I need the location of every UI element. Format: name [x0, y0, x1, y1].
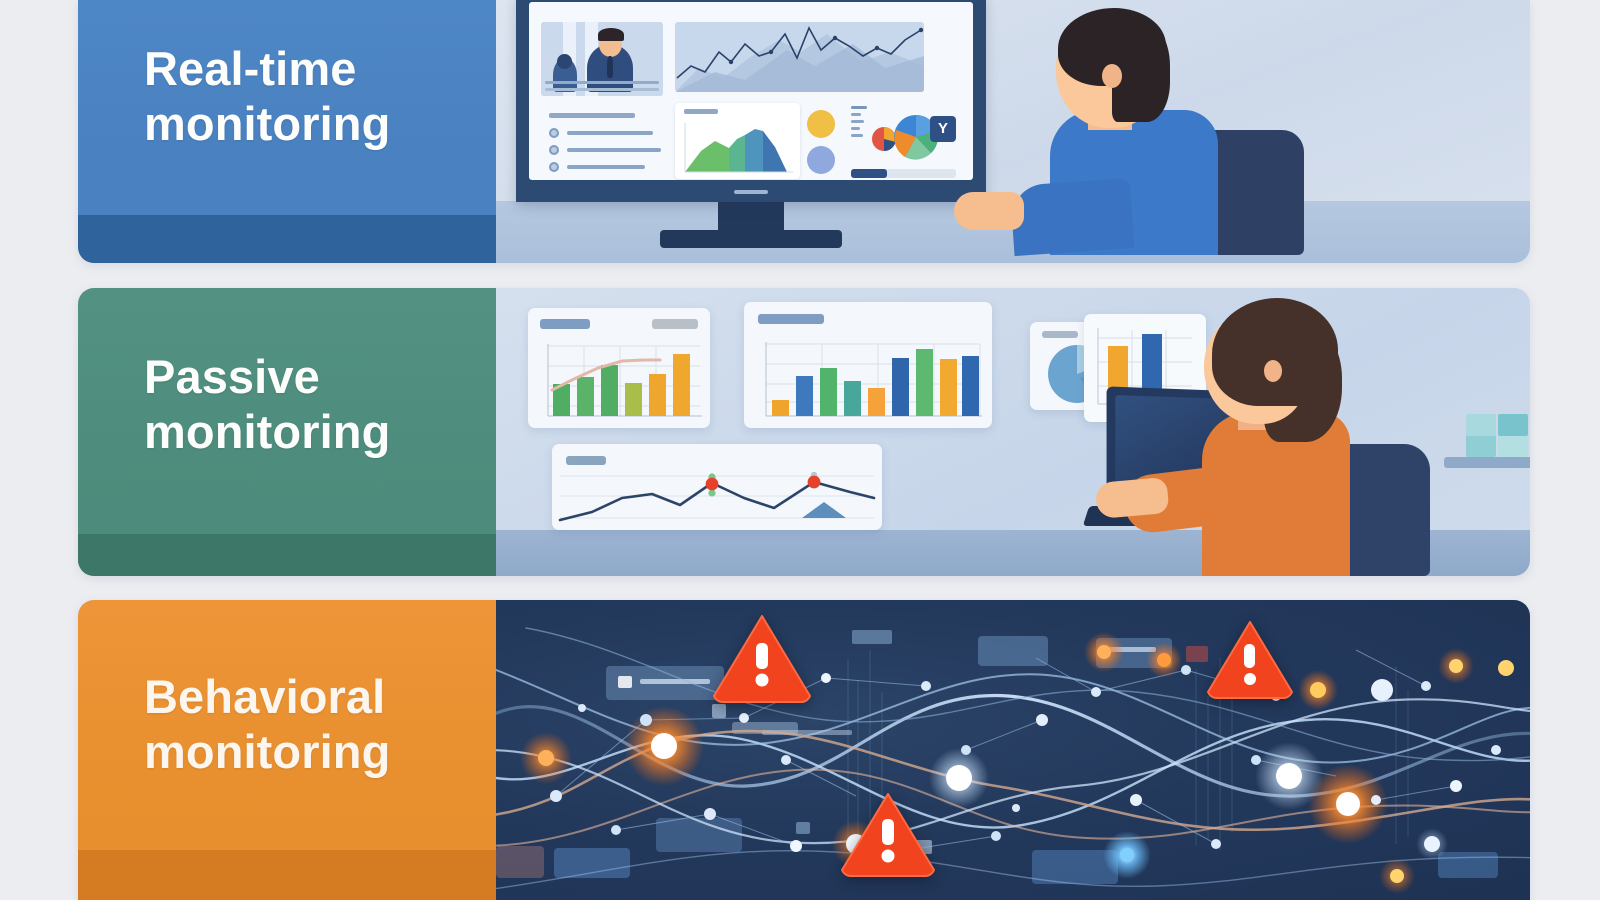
shelf-plank	[1444, 457, 1530, 468]
kpi-dot-blue	[807, 146, 835, 174]
progress-bar-track	[851, 169, 956, 178]
area-chart-svg	[675, 117, 800, 179]
line-card-svg	[552, 470, 882, 528]
video-caption-bar-1	[545, 81, 659, 84]
kpi-dot-amber	[807, 110, 835, 138]
band-3-label-text: Behavioral monitoring	[144, 670, 484, 780]
pie-legend-bars	[851, 106, 867, 141]
band-1-scene-man-at-monitor: Y	[496, 0, 1530, 263]
pie-chart-widget: Y	[851, 104, 956, 178]
line-chart-widget	[675, 22, 924, 92]
network-graph-svg	[496, 600, 1530, 900]
monitor-stand-foot	[660, 230, 842, 248]
band-2-scene-woman-at-laptop	[496, 288, 1530, 576]
warning-triangle-icon[interactable]	[836, 788, 940, 880]
desktop-monitor: Y	[516, 0, 986, 202]
person-man-at-desk	[1016, 2, 1316, 252]
band-2-label-panel: Passive monitoring	[78, 288, 496, 576]
kpi-dots-group	[807, 106, 843, 178]
band-passive-monitoring[interactable]: Passive monitoring	[78, 288, 1530, 576]
video-person-small-head	[557, 54, 572, 69]
area-chart-widget	[675, 103, 800, 179]
card-title-bar	[566, 456, 606, 465]
bar-chart-2-svg	[744, 332, 992, 428]
list-item-text-bar	[567, 165, 645, 169]
monitor-screen: Y	[529, 2, 973, 180]
bar-chart-1-svg	[528, 336, 710, 428]
card-title-bar	[540, 319, 590, 329]
video-caption-bar-2	[545, 88, 659, 91]
person-woman-at-laptop	[1086, 294, 1416, 576]
shelf-block	[1498, 414, 1528, 436]
band-3-scene-anomaly-network	[496, 600, 1530, 900]
band-3-label-line1: Behavioral	[144, 670, 484, 725]
wall-shelf	[1444, 388, 1530, 468]
list-item-text-bar	[567, 131, 653, 135]
band-2-label-base-strip	[78, 534, 496, 576]
video-tile-widget	[541, 22, 663, 96]
radio-icon	[549, 145, 559, 155]
band-1-label-text: Real-time monitoring	[144, 42, 484, 152]
list-widget	[541, 106, 663, 176]
list-title-bar	[549, 113, 635, 118]
area-chart-title-bar	[684, 109, 718, 114]
woman-ear	[1264, 360, 1282, 382]
man-hand-on-mouse	[954, 192, 1024, 230]
band-3-label-line2: monitoring	[144, 725, 484, 780]
man-ear	[1102, 64, 1122, 88]
infographic-canvas: Real-time monitoring	[0, 0, 1600, 900]
bar-chart-card-2[interactable]	[744, 302, 992, 428]
video-person-hair	[598, 28, 624, 41]
card-title-bar	[758, 314, 824, 324]
progress-bar-fill	[851, 169, 887, 178]
bar-chart-card-1[interactable]	[528, 308, 710, 428]
shelf-block	[1466, 414, 1496, 436]
man-arm	[1010, 178, 1135, 256]
band-2-label-text: Passive monitoring	[144, 350, 484, 460]
warning-triangle-icon[interactable]	[708, 610, 816, 706]
list-item-text-bar	[567, 148, 661, 152]
band-behavioral-monitoring[interactable]: Behavioral monitoring	[78, 600, 1530, 900]
card-title-bar	[1042, 331, 1078, 338]
warning-triangle-icon[interactable]	[1202, 616, 1298, 702]
band-1-label-line2: monitoring	[144, 97, 484, 152]
band-2-label-line2: monitoring	[144, 405, 484, 460]
video-person-tie	[607, 56, 613, 78]
band-real-time-monitoring[interactable]: Real-time monitoring	[78, 0, 1530, 263]
monitor-led-bar	[734, 190, 768, 194]
shelf-block	[1498, 433, 1528, 457]
band-2-label-line1: Passive	[144, 350, 484, 405]
y-badge[interactable]: Y	[930, 116, 956, 142]
band-3-label-panel: Behavioral monitoring	[78, 600, 496, 900]
band-3-label-base-strip	[78, 850, 496, 900]
woman-hair	[1212, 298, 1338, 406]
radio-icon	[549, 162, 559, 172]
woman-hands-on-keyboard	[1095, 477, 1170, 519]
line-chart-svg	[675, 22, 924, 92]
band-1-label-panel: Real-time monitoring	[78, 0, 496, 263]
radio-icon	[549, 128, 559, 138]
line-chart-card[interactable]	[552, 444, 882, 530]
card-badge-bar	[652, 319, 698, 329]
band-1-label-line1: Real-time	[144, 42, 484, 97]
monitor-bezel: Y	[516, 0, 986, 202]
band-1-label-base-strip	[78, 215, 496, 263]
